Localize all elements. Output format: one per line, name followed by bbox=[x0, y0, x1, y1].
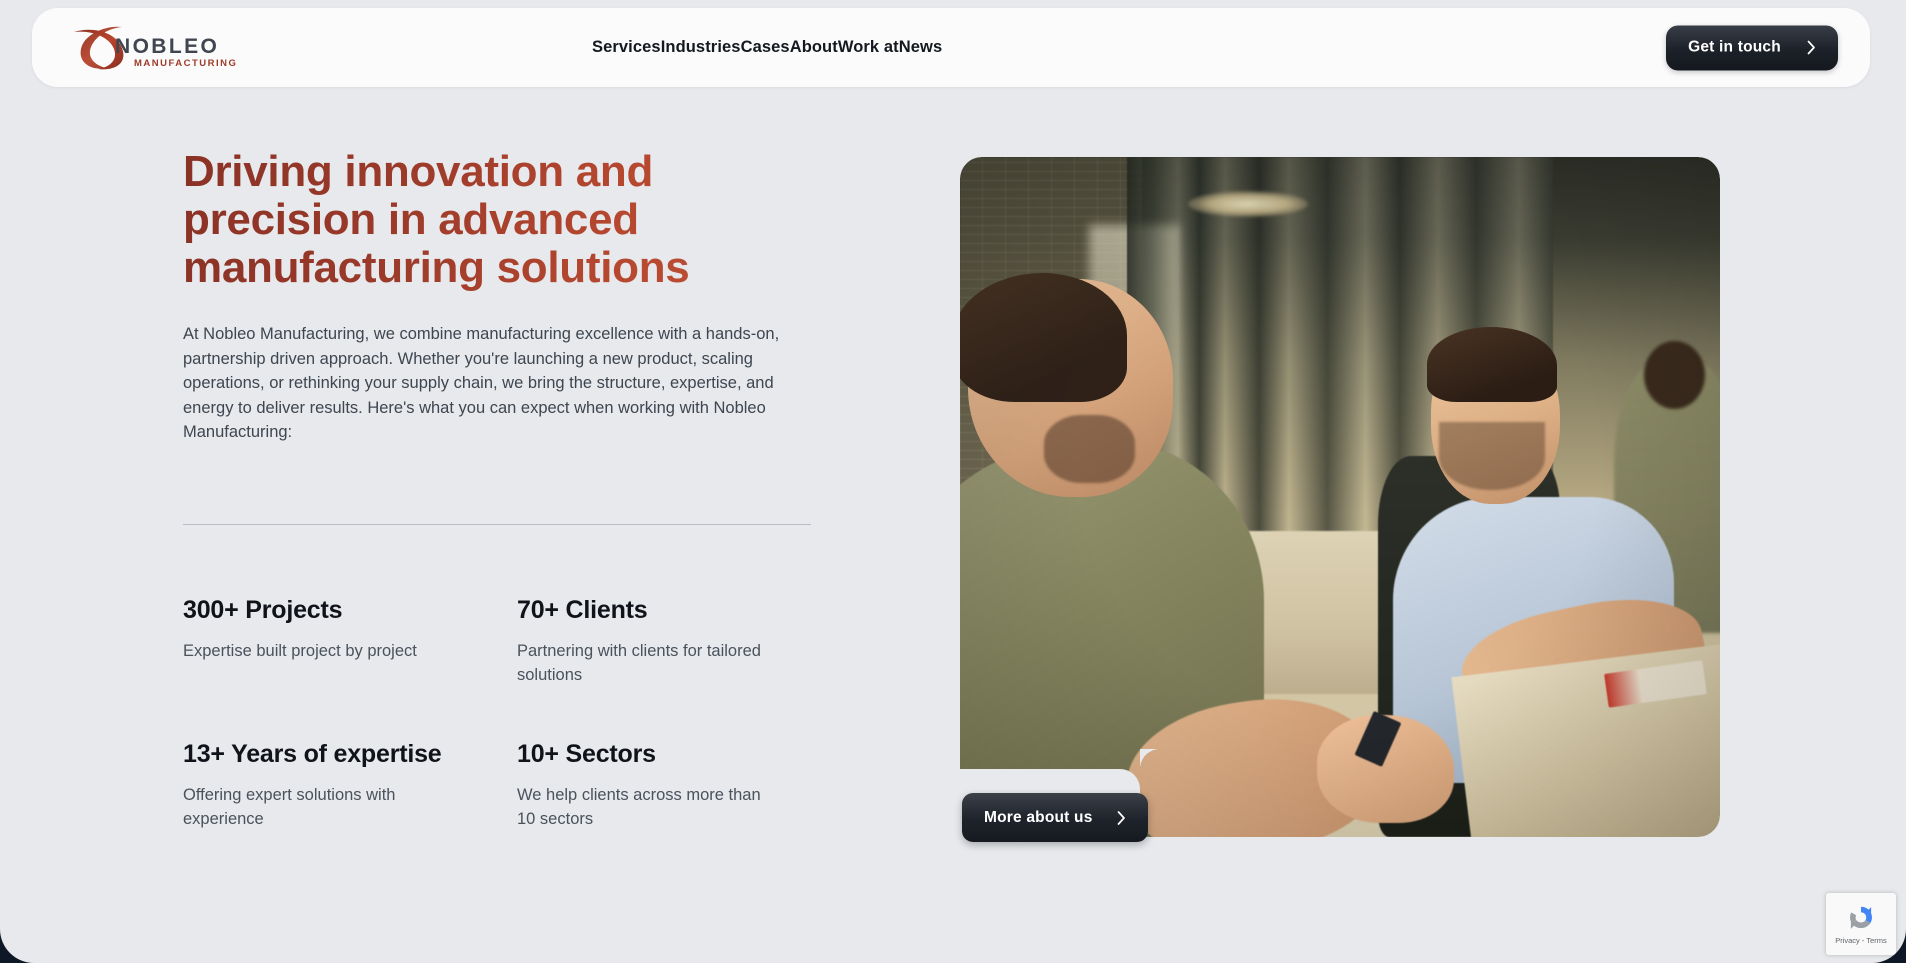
nobleo-x-swoosh-logo: NOBLEO MANUFACTURING bbox=[68, 22, 236, 74]
svg-text:NOBLEO: NOBLEO bbox=[115, 35, 219, 58]
nobleo-logo[interactable]: NOBLEO MANUFACTURING bbox=[68, 22, 236, 74]
get-in-touch-button[interactable]: Get in touch bbox=[1666, 25, 1838, 70]
get-in-touch-label: Get in touch bbox=[1688, 39, 1781, 57]
stats-grid: 300+ Projects Expertise built project by… bbox=[183, 595, 823, 831]
stat-item-years: 13+ Years of expertise Offering expert s… bbox=[183, 739, 517, 831]
site-header: NOBLEO MANUFACTURING Services Industries… bbox=[32, 8, 1870, 87]
photo-notch-corner bbox=[1140, 749, 1160, 769]
hero-photo-inner bbox=[960, 157, 1720, 837]
stat-description: Expertise built project by project bbox=[183, 639, 445, 663]
stat-item-clients: 70+ Clients Partnering with clients for … bbox=[517, 595, 823, 687]
stat-description: We help clients across more than 10 sect… bbox=[517, 783, 779, 831]
stat-description: Partnering with clients for tailored sol… bbox=[517, 639, 779, 687]
nav-item-work-at[interactable]: Work at bbox=[838, 30, 899, 65]
hero-paragraph: At Nobleo Manufacturing, we combine manu… bbox=[183, 322, 811, 445]
nav-item-news[interactable]: News bbox=[899, 30, 943, 65]
hero-media bbox=[960, 157, 1720, 837]
stat-title: 70+ Clients bbox=[517, 595, 823, 625]
nav-item-cases[interactable]: Cases bbox=[741, 30, 790, 65]
primary-navigation: Services Industries Cases About Work at … bbox=[592, 8, 942, 87]
stat-description: Offering expert solutions with experienc… bbox=[183, 783, 445, 831]
page-container: NOBLEO MANUFACTURING Services Industries… bbox=[0, 0, 1906, 963]
chevron-right-icon bbox=[1117, 811, 1126, 825]
stat-item-projects: 300+ Projects Expertise built project by… bbox=[183, 595, 517, 687]
recaptcha-icon bbox=[1846, 903, 1876, 933]
hero-photo bbox=[960, 157, 1720, 837]
office-scene-illustration bbox=[960, 157, 1720, 837]
svg-text:MANUFACTURING: MANUFACTURING bbox=[134, 58, 236, 69]
more-about-us-button[interactable]: More about us bbox=[962, 793, 1148, 842]
recaptcha-badge[interactable]: Privacy - Terms bbox=[1826, 893, 1896, 955]
recaptcha-label: Privacy - Terms bbox=[1835, 936, 1887, 945]
page-title: Driving innovation and precision in adva… bbox=[183, 148, 803, 292]
stat-item-sectors: 10+ Sectors We help clients across more … bbox=[517, 739, 823, 831]
nav-item-services[interactable]: Services bbox=[592, 30, 661, 65]
stat-title: 10+ Sectors bbox=[517, 739, 823, 769]
chevron-right-icon bbox=[1807, 41, 1816, 55]
nav-item-about[interactable]: About bbox=[790, 30, 838, 65]
hero-text-column: Driving innovation and precision in adva… bbox=[183, 148, 815, 445]
nav-item-industries[interactable]: Industries bbox=[661, 30, 741, 65]
stat-title: 300+ Projects bbox=[183, 595, 517, 625]
stat-title: 13+ Years of expertise bbox=[183, 739, 517, 769]
section-divider bbox=[183, 524, 811, 525]
more-about-us-label: More about us bbox=[984, 809, 1093, 827]
